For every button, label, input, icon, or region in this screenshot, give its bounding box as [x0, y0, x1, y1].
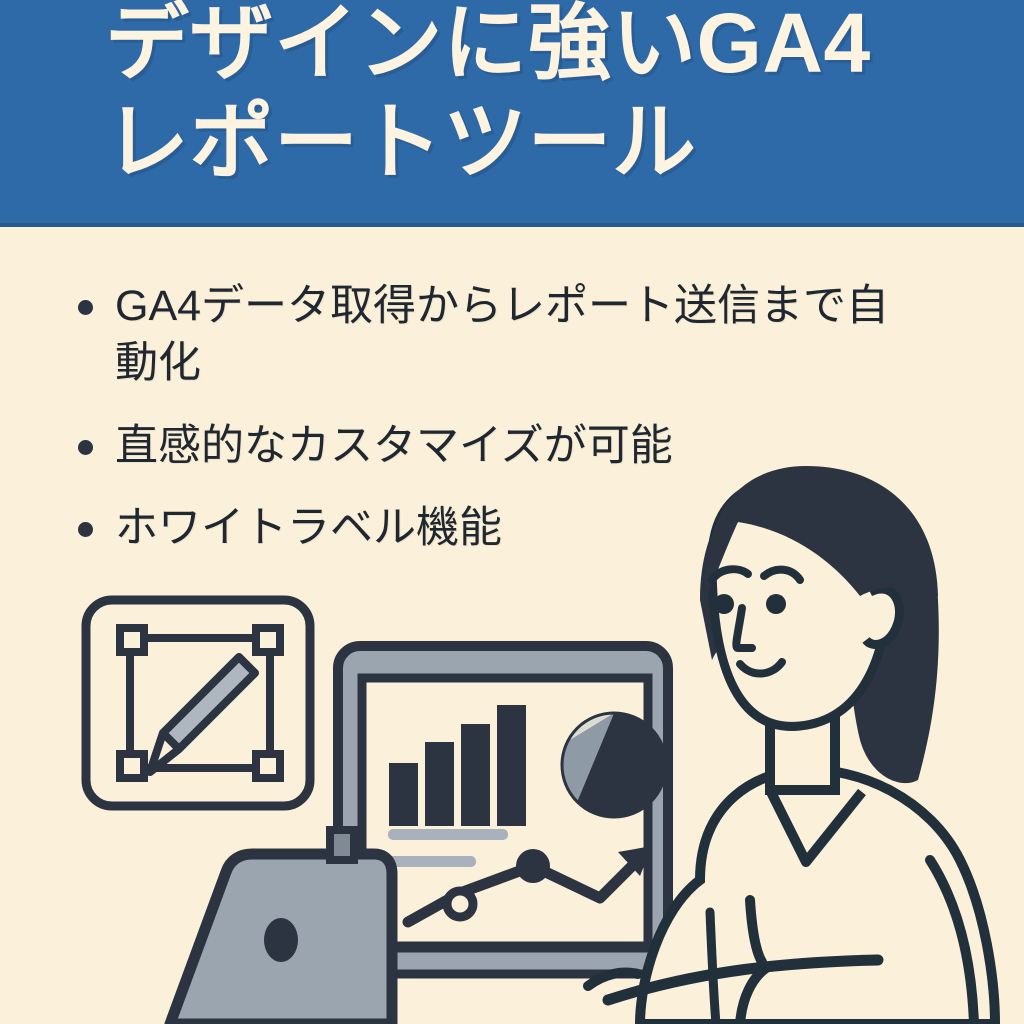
bar-2 [427, 744, 452, 824]
laptop-logo-icon [264, 918, 298, 962]
poster-canvas: デザインに強いGA4 レポートツール GA4データ取得からレポート送信まで自動化… [0, 0, 1024, 1024]
person-torso [640, 770, 995, 1024]
trend-point-hollow [447, 891, 473, 917]
placeholder-line-1 [388, 829, 508, 840]
bar-1 [391, 765, 416, 824]
laptop [170, 830, 392, 1024]
illustration [0, 0, 1024, 1024]
design-pencil-icon [86, 600, 310, 806]
handle-top-right-icon [256, 628, 280, 652]
person-eye-left [714, 594, 734, 614]
person-ear [866, 589, 900, 645]
person-sleeve-seam [710, 912, 716, 1024]
bar-3 [463, 726, 488, 824]
laptop-hinge [330, 830, 354, 860]
bar-4 [499, 707, 524, 824]
handle-bottom-right-icon [256, 754, 280, 778]
handle-top-left-icon [120, 628, 144, 652]
placeholder-line-2 [388, 856, 476, 867]
handle-bottom-left-icon [120, 754, 144, 778]
trend-point-filled [516, 849, 550, 883]
person-eye-right [766, 594, 786, 614]
screen-pie-chart [562, 713, 666, 817]
